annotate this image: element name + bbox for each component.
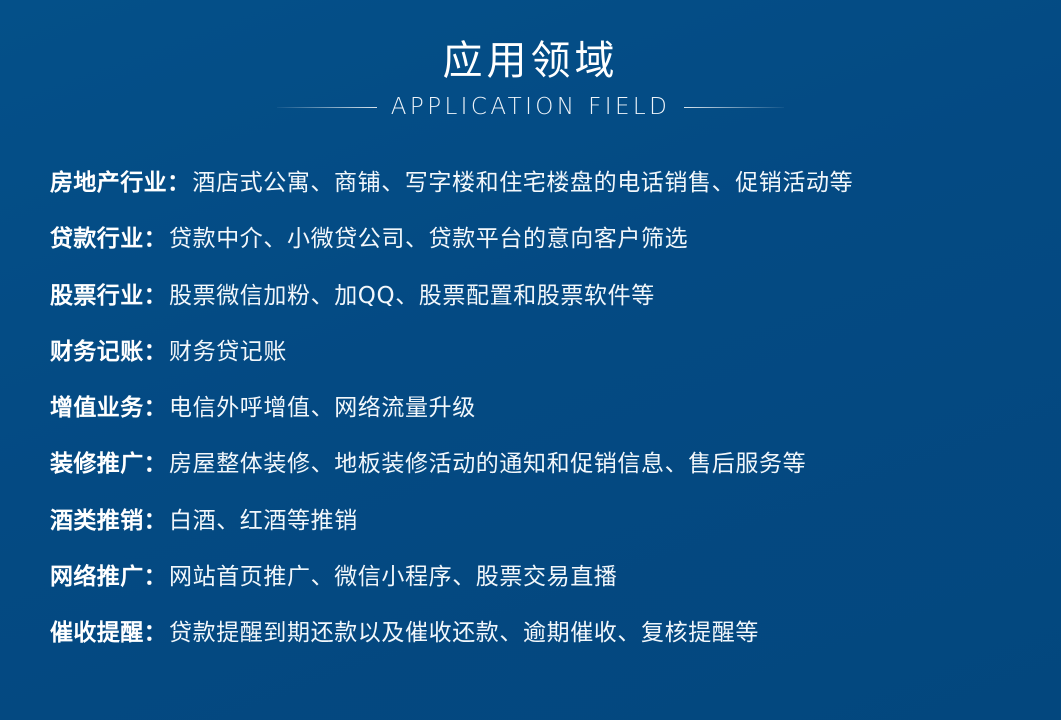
list-item: 股票行业： 股票微信加粉、加QQ、股票配置和股票软件等: [50, 279, 1035, 335]
slide-header: 应用领域 APPLICATION FIELD: [0, 36, 1061, 122]
list-item-label: 增值业务：: [50, 391, 167, 425]
list-item: 财务记账： 财务贷记账: [50, 335, 1035, 391]
list-item-description: 贷款中介、小微贷公司、贷款平台的意向客户筛选: [169, 222, 688, 256]
list-item: 催收提醒： 贷款提醒到期还款以及催收还款、逾期催收、复核提醒等: [50, 616, 1035, 672]
list-item: 网络推广： 网站首页推广、微信小程序、股票交易直播: [50, 560, 1035, 616]
list-item-label: 贷款行业：: [50, 222, 167, 256]
list-item: 贷款行业： 贷款中介、小微贷公司、贷款平台的意向客户筛选: [50, 222, 1035, 278]
subtitle-row: APPLICATION FIELD: [0, 92, 1061, 122]
application-field-list: 房地产行业： 酒店式公寓、商铺、写字楼和住宅楼盘的电话销售、促销活动等 贷款行业…: [50, 166, 1035, 673]
list-item-label: 装修推广：: [50, 447, 167, 481]
list-item-label: 房地产行业：: [50, 166, 190, 200]
list-item: 酒类推销： 白酒、红酒等推销: [50, 504, 1035, 560]
list-item-description: 财务贷记账: [169, 335, 287, 369]
list-item-description: 电信外呼增值、网络流量升级: [169, 391, 476, 425]
list-item-description: 网站首页推广、微信小程序、股票交易直播: [169, 560, 617, 594]
list-item-label: 酒类推销：: [50, 504, 167, 538]
list-item: 装修推广： 房屋整体装修、地板装修活动的通知和促销信息、售后服务等: [50, 447, 1035, 503]
list-item-description: 股票微信加粉、加QQ、股票配置和股票软件等: [169, 279, 655, 313]
slide-application-field: 应用领域 APPLICATION FIELD 房地产行业： 酒店式公寓、商铺、写…: [0, 0, 1061, 720]
page-subtitle: APPLICATION FIELD: [391, 92, 670, 122]
list-item-label: 股票行业：: [50, 279, 167, 313]
page-title: 应用领域: [0, 36, 1061, 86]
list-item-description: 房屋整体装修、地板装修活动的通知和促销信息、售后服务等: [169, 447, 806, 481]
list-item-description: 白酒、红酒等推销: [169, 504, 358, 538]
list-item-label: 网络推广：: [50, 560, 167, 594]
decorative-rule-right-icon: [684, 107, 784, 108]
list-item-label: 催收提醒：: [50, 616, 167, 650]
list-item-description: 酒店式公寓、商铺、写字楼和住宅楼盘的电话销售、促销活动等: [192, 166, 853, 200]
decorative-rule-left-icon: [277, 107, 377, 108]
list-item: 房地产行业： 酒店式公寓、商铺、写字楼和住宅楼盘的电话销售、促销活动等: [50, 166, 1035, 222]
list-item-label: 财务记账：: [50, 335, 167, 369]
list-item: 增值业务： 电信外呼增值、网络流量升级: [50, 391, 1035, 447]
list-item-description: 贷款提醒到期还款以及催收还款、逾期催收、复核提醒等: [169, 616, 759, 650]
